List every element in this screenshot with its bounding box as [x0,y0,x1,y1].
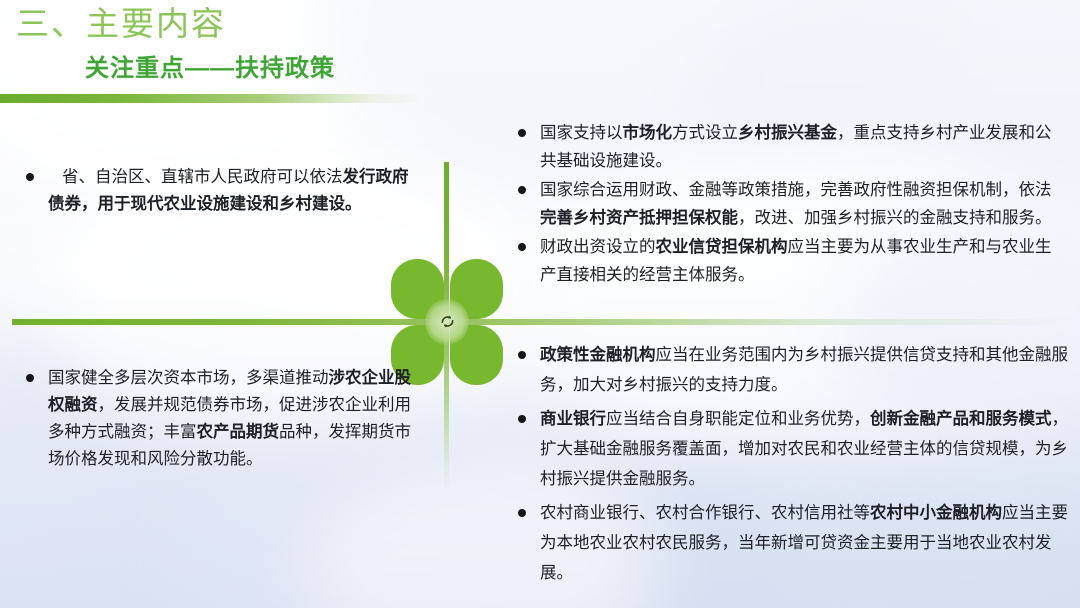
bullet-item: 农村商业银行、农村合作银行、农村信用社等农村中小金融机构应当主要为本地农业农村农… [512,498,1068,588]
header-divider-bar [0,94,420,103]
bullet-text-run: ，改进、加强乡村振兴的金融支持和服务。 [738,209,1052,227]
page-subtitle: 关注重点——扶持政策 [85,53,335,85]
bullet-text: 财政出资设立的农业信贷担保机构应当主要为从事农业生产和与农业生产直接相关的经营主… [540,234,1066,289]
bullet-dot-icon [518,351,526,359]
bullet-item: 政策性金融机构应当在业务范围内为乡村振兴提供信贷支持和其他金融服务，加大对乡村振… [512,340,1068,400]
bullet-list: 国家健全多层次资本市场，多渠道推动涉农企业股权融资，发展并规范债券市场，促进涉农… [20,365,420,473]
bullet-text-emphasis: 乡村振兴基金 [738,124,837,142]
bullet-dot-icon [26,374,34,382]
bullet-text-emphasis: 农村中小金融机构 [870,504,1002,522]
bullet-text-run: 国家综合运用财政、金融等政策措施，完善政府性融资担保机制，依法 [540,181,1052,199]
horizontal-divider-line [12,319,1068,325]
bullet-dot-icon [518,243,526,251]
bullet-item: 商业银行应当结合自身职能定位和业务优势，创新金融产品和服务模式，扩大基础金融服务… [512,404,1068,494]
slide-header: 三、主要内容 关注重点——扶持政策 [0,0,1080,104]
recycle-icon [439,313,456,330]
bullet-list: 省、自治区、直辖市人民政府可以依法发行政府债券，用于现代农业设施建设和乡村建设。 [20,164,422,218]
bullet-text: 政策性金融机构应当在业务范围内为乡村振兴提供信贷支持和其他金融服务，加大对乡村振… [540,340,1068,400]
bullet-item: 国家支持以市场化方式设立乡村振兴基金，重点支持乡村产业发展和公共基础设施建设。 [512,120,1066,175]
bullet-text-run: 应当结合自身职能定位和业务优势， [606,410,870,428]
slide-canvas: 三、主要内容 关注重点——扶持政策 省、自治区、直辖市人民政府可以依法发行政府债… [0,0,1080,608]
bullet-text-emphasis: 创新金融产品和服务模式 [870,410,1052,428]
bullet-dot-icon [518,129,526,137]
bullet-text: 农村商业银行、农村合作银行、农村信用社等农村中小金融机构应当主要为本地农业农村农… [540,498,1068,588]
bullet-item: 财政出资设立的农业信贷担保机构应当主要为从事农业生产和与农业生产直接相关的经营主… [512,234,1066,289]
bullet-text: 国家支持以市场化方式设立乡村振兴基金，重点支持乡村产业发展和公共基础设施建设。 [540,120,1066,175]
bullet-dot-icon [518,415,526,423]
content-block-top-left: 省、自治区、直辖市人民政府可以依法发行政府债券，用于现代农业设施建设和乡村建设。 [20,164,422,220]
bullet-text: 国家健全多层次资本市场，多渠道推动涉农企业股权融资，发展并规范债券市场，促进涉农… [48,365,420,473]
bullet-text-emphasis: 农业信贷担保机构 [656,238,788,256]
bullet-item: 国家健全多层次资本市场，多渠道推动涉农企业股权融资，发展并规范债券市场，促进涉农… [20,365,420,473]
bullet-text-run: 省、自治区、直辖市人民政府可以依法 [62,168,343,186]
bullet-dot-icon [518,186,526,194]
content-block-bottom-left: 国家健全多层次资本市场，多渠道推动涉农企业股权融资，发展并规范债券市场，促进涉农… [20,365,420,475]
bullet-text-run: 国家健全多层次资本市场，多渠道推动 [48,369,329,387]
bullet-text-emphasis: 农产品期货 [197,423,280,441]
bullet-dot-icon [26,173,34,181]
bullet-text-run: 财政出资设立的 [540,238,656,256]
bullet-list: 国家支持以市场化方式设立乡村振兴基金，重点支持乡村产业发展和公共基础设施建设。国… [512,120,1066,289]
bullet-text-emphasis: 完善乡村资产抵押担保权能 [540,209,738,227]
bullet-dot-icon [518,509,526,517]
content-block-bottom-right: 政策性金融机构应当在业务范围内为乡村振兴提供信贷支持和其他金融服务，加大对乡村振… [512,340,1068,592]
bullet-text: 省、自治区、直辖市人民政府可以依法发行政府债券，用于现代农业设施建设和乡村建设。 [48,164,422,218]
bullet-item: 省、自治区、直辖市人民政府可以依法发行政府债券，用于现代农业设施建设和乡村建设。 [20,164,422,218]
bullet-text-run: 农村商业银行、农村合作银行、农村信用社等 [540,504,870,522]
bullet-text: 国家综合运用财政、金融等政策措施，完善政府性融资担保机制，依法完善乡村资产抵押担… [540,177,1066,232]
bullet-text-emphasis: 商业银行 [540,410,606,428]
page-title: 三、主要内容 [16,4,226,44]
bullet-text-emphasis: 市场化 [623,124,673,142]
bullet-text: 商业银行应当结合自身职能定位和业务优势，创新金融产品和服务模式，扩大基础金融服务… [540,404,1068,494]
bullet-list: 政策性金融机构应当在业务范围内为乡村振兴提供信贷支持和其他金融服务，加大对乡村振… [512,340,1068,588]
bullet-text-run: 国家支持以 [540,124,623,142]
bullet-item: 国家综合运用财政、金融等政策措施，完善政府性融资担保机制，依法完善乡村资产抵押担… [512,177,1066,232]
bullet-text-emphasis: 政策性金融机构 [540,346,656,364]
content-block-top-right: 国家支持以市场化方式设立乡村振兴基金，重点支持乡村产业发展和公共基础设施建设。国… [512,120,1066,291]
bullet-text-run: 方式设立 [672,124,738,142]
